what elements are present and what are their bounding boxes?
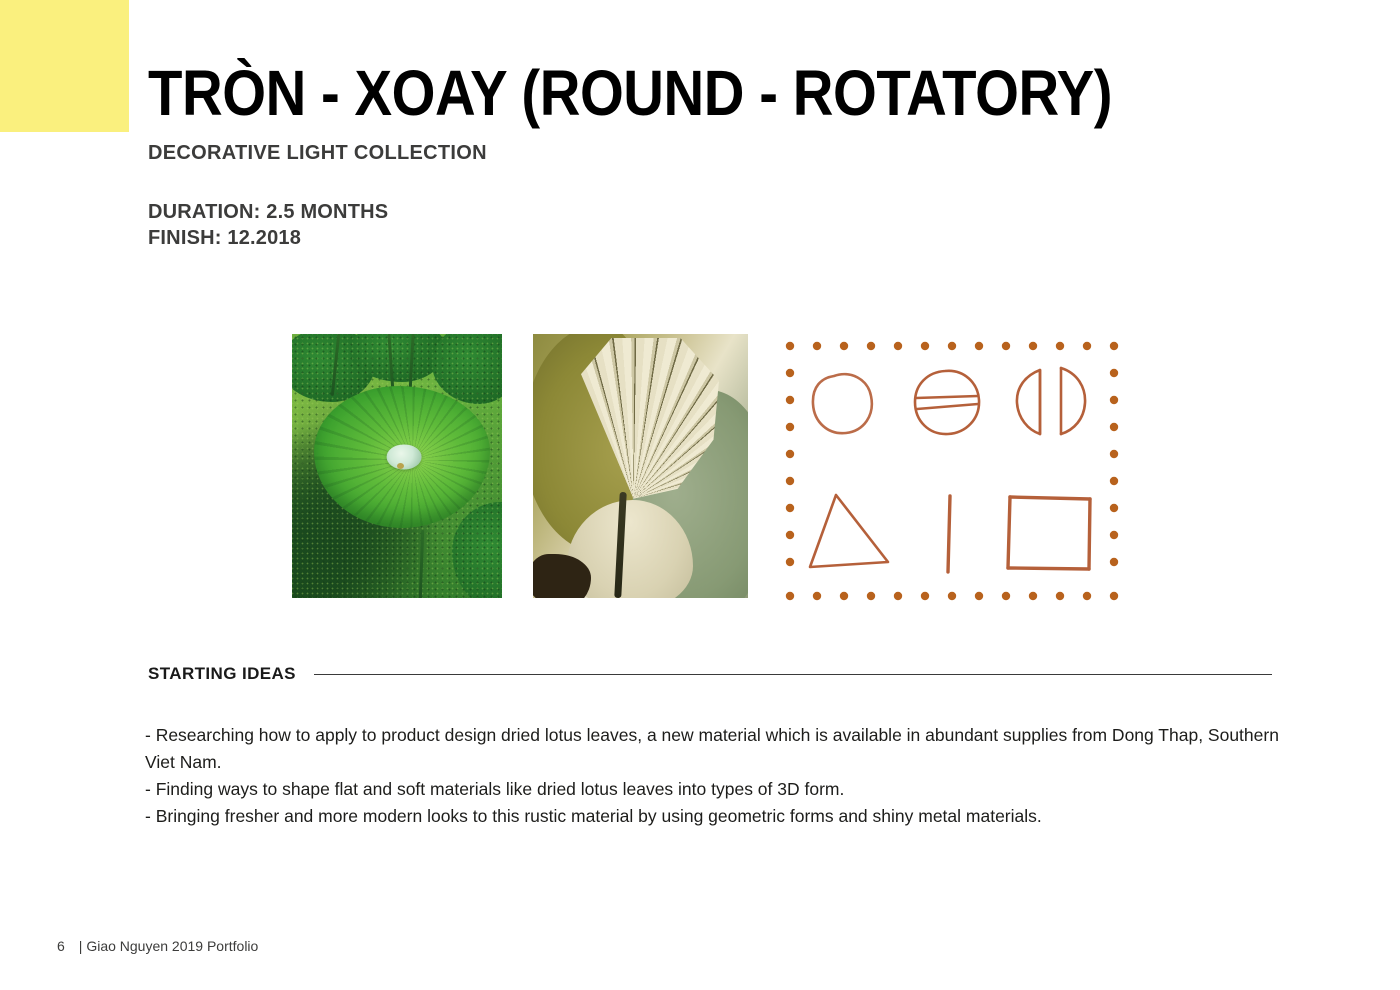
page-header: TRÒN - XOAY (ROUND - ROTATORY) DECORATIV…: [148, 62, 1328, 251]
yellow-corner-block: [0, 0, 129, 132]
meta-duration: DURATION: 2.5 MONTHS: [148, 199, 1328, 225]
page-number: 6: [57, 938, 65, 954]
section-divider: [314, 674, 1272, 675]
idea-paragraph: - Finding ways to shape flat and soft ma…: [145, 776, 1290, 803]
page-title: TRÒN - XOAY (ROUND - ROTATORY): [148, 62, 1186, 124]
page-subtitle: DECORATIVE LIGHT COLLECTION: [148, 142, 1328, 165]
sketch-line: [948, 496, 950, 572]
meta-finish: FINISH: 12.2018: [148, 225, 1328, 251]
section-title: STARTING IDEAS: [148, 664, 296, 684]
image-gallery: [292, 334, 1126, 598]
starting-ideas-header: STARTING IDEAS: [148, 664, 1272, 684]
footer-credit: | Giao Nguyen 2019 Portfolio: [79, 938, 259, 954]
dried-lotus-leaf-photo: [533, 334, 748, 598]
green-lotus-leaf-photo: [292, 334, 502, 598]
idea-paragraph: - Researching how to apply to product de…: [145, 722, 1290, 776]
starting-ideas-body: - Researching how to apply to product de…: [145, 722, 1290, 830]
project-meta: DURATION: 2.5 MONTHS FINISH: 12.2018: [148, 199, 1328, 251]
page-footer: 6 | Giao Nguyen 2019 Portfolio: [57, 938, 258, 954]
geometric-sketch-panel: [778, 334, 1126, 608]
idea-paragraph: - Bringing fresher and more modern looks…: [145, 803, 1290, 830]
sketch-svg: [778, 334, 1126, 608]
